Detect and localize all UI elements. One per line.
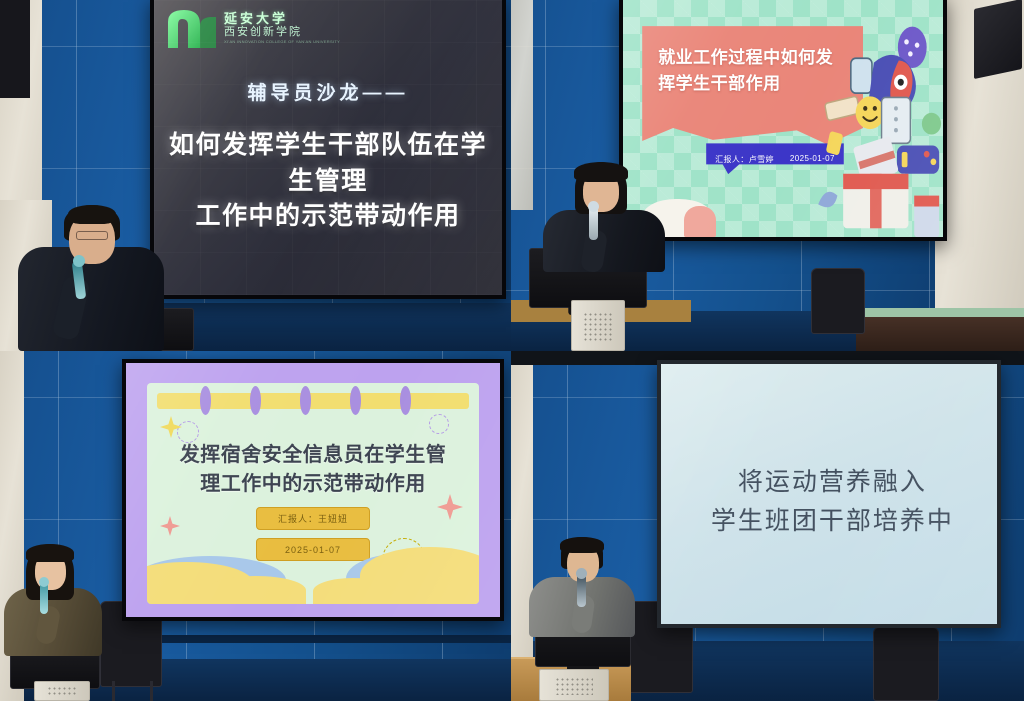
pc-tower-bl [34,681,90,701]
cream-wall-left [511,0,533,210]
slide-tl-title-line2: 工作中的示范带动作用 [168,199,488,235]
speaker-tl [18,205,178,351]
chair-tr [811,268,865,334]
pc-vent-grille [583,312,612,342]
slide-bl-date: 2025-01-07 [285,545,341,555]
panel-bottom-left: 发挥宿舍安全信息员在学生管 理工作中的示范带动作用 汇报人：王妞妞 2025-0… [0,351,511,701]
logo-line2: 西安创新学院 [224,27,340,38]
binder-ring-4 [350,386,361,415]
sparkle-icon-1 [160,416,182,438]
slide-br-title: 将运动营养融入 学生班团干部培养中 [695,463,971,542]
slide-tr-presenter: 汇报人：卢雪婷 [715,154,774,165]
microphone-bl-head [39,577,49,587]
microphone-tl-head [73,255,85,267]
panel-top-right: 就业工作过程中如何发 挥学生干部作用 汇报人：卢雪婷 2025-01-07 [511,0,1024,351]
ceiling-speaker-icon [974,0,1022,79]
microphone-br-head [576,568,587,579]
speaker-tl-glasses [76,231,108,240]
speaker-br-hairline [560,537,604,553]
university-logo: 延安大学 西安创新学院 XI'AN INNOVATION COLLEGE OF … [166,8,340,48]
slide-bl-card: 发挥宿舍安全信息员在学生管 理工作中的示范带动作用 汇报人：王妞妞 2025-0… [147,383,480,604]
logo-wordmark: 延安大学 西安创新学院 XI'AN INNOVATION COLLEGE OF … [224,12,340,44]
logo-arc-icon [166,8,218,48]
binder-ring-5 [400,386,411,415]
pc-tower-tr [571,300,625,351]
slide-bl: 发挥宿舍安全信息员在学生管 理工作中的示范带动作用 汇报人：王妞妞 2025-0… [126,363,500,617]
wood-desk-tr [856,312,1024,351]
chair-bl-1-leg2 [150,681,153,701]
slide-bl-date-pill: 2025-01-07 [256,538,369,561]
pc-vent-grille [555,677,593,696]
slide-bl-presenter-pill: 汇报人：王妞妞 [256,507,369,530]
slide-bl-title: 发挥宿舍安全信息员在学生管 理工作中的示范带动作用 [167,441,460,499]
projector-screen-br: 将运动营养融入 学生班团干部培养中 [657,360,1001,628]
logo-line1: 延安大学 [224,12,340,25]
slide-bl-title-line2: 理工作中的示范带动作用 [167,470,460,499]
chair-br-2 [873,627,939,701]
cloud-yellow-left2 [206,576,306,605]
slide-tl: 延安大学 西安创新学院 XI'AN INNOVATION COLLEGE OF … [154,0,502,295]
panel-top-left: 延安大学 西安创新学院 XI'AN INNOVATION COLLEGE OF … [0,0,511,351]
speaker-br [529,537,641,637]
slide-tl-title-line1: 如何发挥学生干部队伍在学生管理 [168,128,488,199]
binder-ring-1 [200,386,211,415]
panel-bottom-right: 将运动营养融入 学生班团干部培养中 [511,351,1024,701]
pc-tower-br [539,669,609,701]
pc-vent-grille [47,686,77,697]
slide-tl-title: 如何发挥学生干部队伍在学生管理 工作中的示范带动作用 [168,128,488,235]
desk-green-surface [856,308,1024,317]
slide-tl-subtitle: 辅导员沙龙—— [154,78,502,105]
slide-br: 将运动营养融入 学生班团干部培养中 [661,364,997,624]
slide-tr-blob-pink [684,206,716,237]
slide-bl-presenter: 汇报人：王妞妞 [278,512,348,525]
binder-ring-3 [300,386,311,415]
speaker-tl-hairline [68,205,116,224]
photo-collage: 延安大学 西安创新学院 XI'AN INNOVATION COLLEGE OF … [0,0,1024,701]
cloud-yellow-right2 [313,578,393,605]
dashed-circle-2 [429,414,449,434]
sparkle-icon-3 [160,516,180,536]
speaker-tr-hairline [574,162,628,182]
projector-screen-bl: 发挥宿舍安全信息员在学生管 理工作中的示范带动作用 汇报人：王妞妞 2025-0… [122,359,504,621]
gift-cluster-icon [799,19,943,237]
binder-ring-2 [250,386,261,415]
projector-screen-tl: 延安大学 西安创新学院 XI'AN INNOVATION COLLEGE OF … [150,0,506,299]
logo-line3: XI'AN INNOVATION COLLEGE OF YAN'AN UNIVE… [224,40,340,44]
speaker-bl-bangs [26,544,74,562]
speaker-tr [543,162,673,272]
slide-tr-illustration [799,19,943,237]
slide-br-title-line1: 将运动营养融入 [695,463,971,503]
slide-bl-title-line1: 发挥宿舍安全信息员在学生管 [167,441,460,470]
slide-br-title-line2: 学生班团干部培养中 [695,502,971,542]
chair-bl-1-leg [112,681,115,701]
corner-fixture [0,0,30,98]
microphone-tr-head [588,201,599,212]
speaker-bl [4,544,108,656]
